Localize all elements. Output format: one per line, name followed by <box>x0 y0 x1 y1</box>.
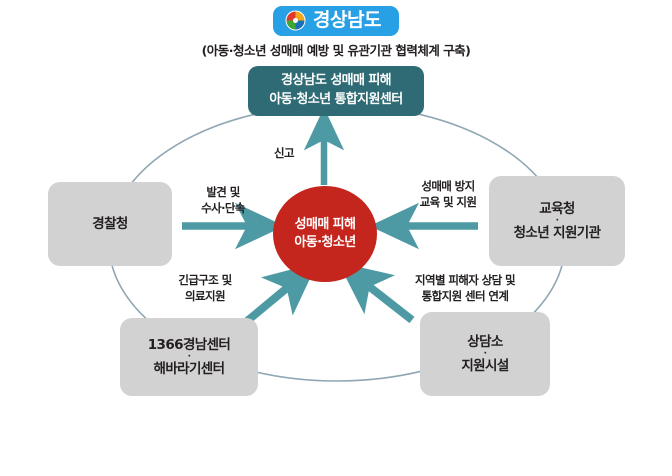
arrow-label-1366-line2: 의료지원 <box>150 288 260 304</box>
diagram-canvas: 경상남도 (아동·청소년 성매매 예방 및 유관기관 협력체계 구축) <box>0 0 672 476</box>
arrow-label-report: 신고 <box>258 145 310 161</box>
node-1366-gyeongnam-center[interactable]: 1366경남센터 · 해바라기센터 <box>120 318 258 396</box>
arrow-label-1366-line1: 긴급구조 및 <box>150 272 260 288</box>
arrow-label-education: 성매매 방지 교육 및 지원 <box>396 178 500 210</box>
arrow-label-counsel-line2: 통합지원 센터 연계 <box>382 288 548 304</box>
arrow-label-police: 발견 및 수사·단속 <box>176 184 270 216</box>
node-integrated-support-center[interactable]: 경상남도 성매매 피해 아동·청소년 통합지원센터 <box>248 66 424 116</box>
node-counsel-line2: 지원시설 <box>461 357 508 375</box>
node-victim-center[interactable]: 성매매 피해 아동·청소년 <box>273 186 377 282</box>
node-education-office[interactable]: 교육청 · 청소년 지원기관 <box>489 176 625 266</box>
node-police-line1: 경찰청 <box>92 215 127 233</box>
arrow-label-1366: 긴급구조 및 의료지원 <box>150 272 260 304</box>
arrow-label-counsel-line1: 지역별 피해자 상담 및 <box>382 272 548 288</box>
node-police-agency[interactable]: 경찰청 <box>48 182 172 266</box>
arrow-label-police-line2: 수사·단속 <box>176 200 270 216</box>
node-counseling-center[interactable]: 상담소 · 지원시설 <box>420 312 550 396</box>
arrow-label-education-line2: 교육 및 지원 <box>396 194 500 210</box>
arrow-label-report-line1: 신고 <box>258 145 310 161</box>
node-1366-line2: 해바라기센터 <box>154 360 225 378</box>
arrow-label-counsel: 지역별 피해자 상담 및 통합지원 센터 연계 <box>382 272 548 304</box>
arrow-label-police-line1: 발견 및 <box>176 184 270 200</box>
node-top-line2: 아동·청소년 통합지원센터 <box>269 91 402 110</box>
node-center-line1: 성매매 피해 <box>295 216 356 234</box>
node-education-line2: 청소년 지원기관 <box>514 224 601 242</box>
arrow-label-education-line1: 성매매 방지 <box>396 178 500 194</box>
node-top-line1: 경상남도 성매매 피해 <box>281 72 391 91</box>
node-center-line2: 아동·청소년 <box>294 234 355 252</box>
